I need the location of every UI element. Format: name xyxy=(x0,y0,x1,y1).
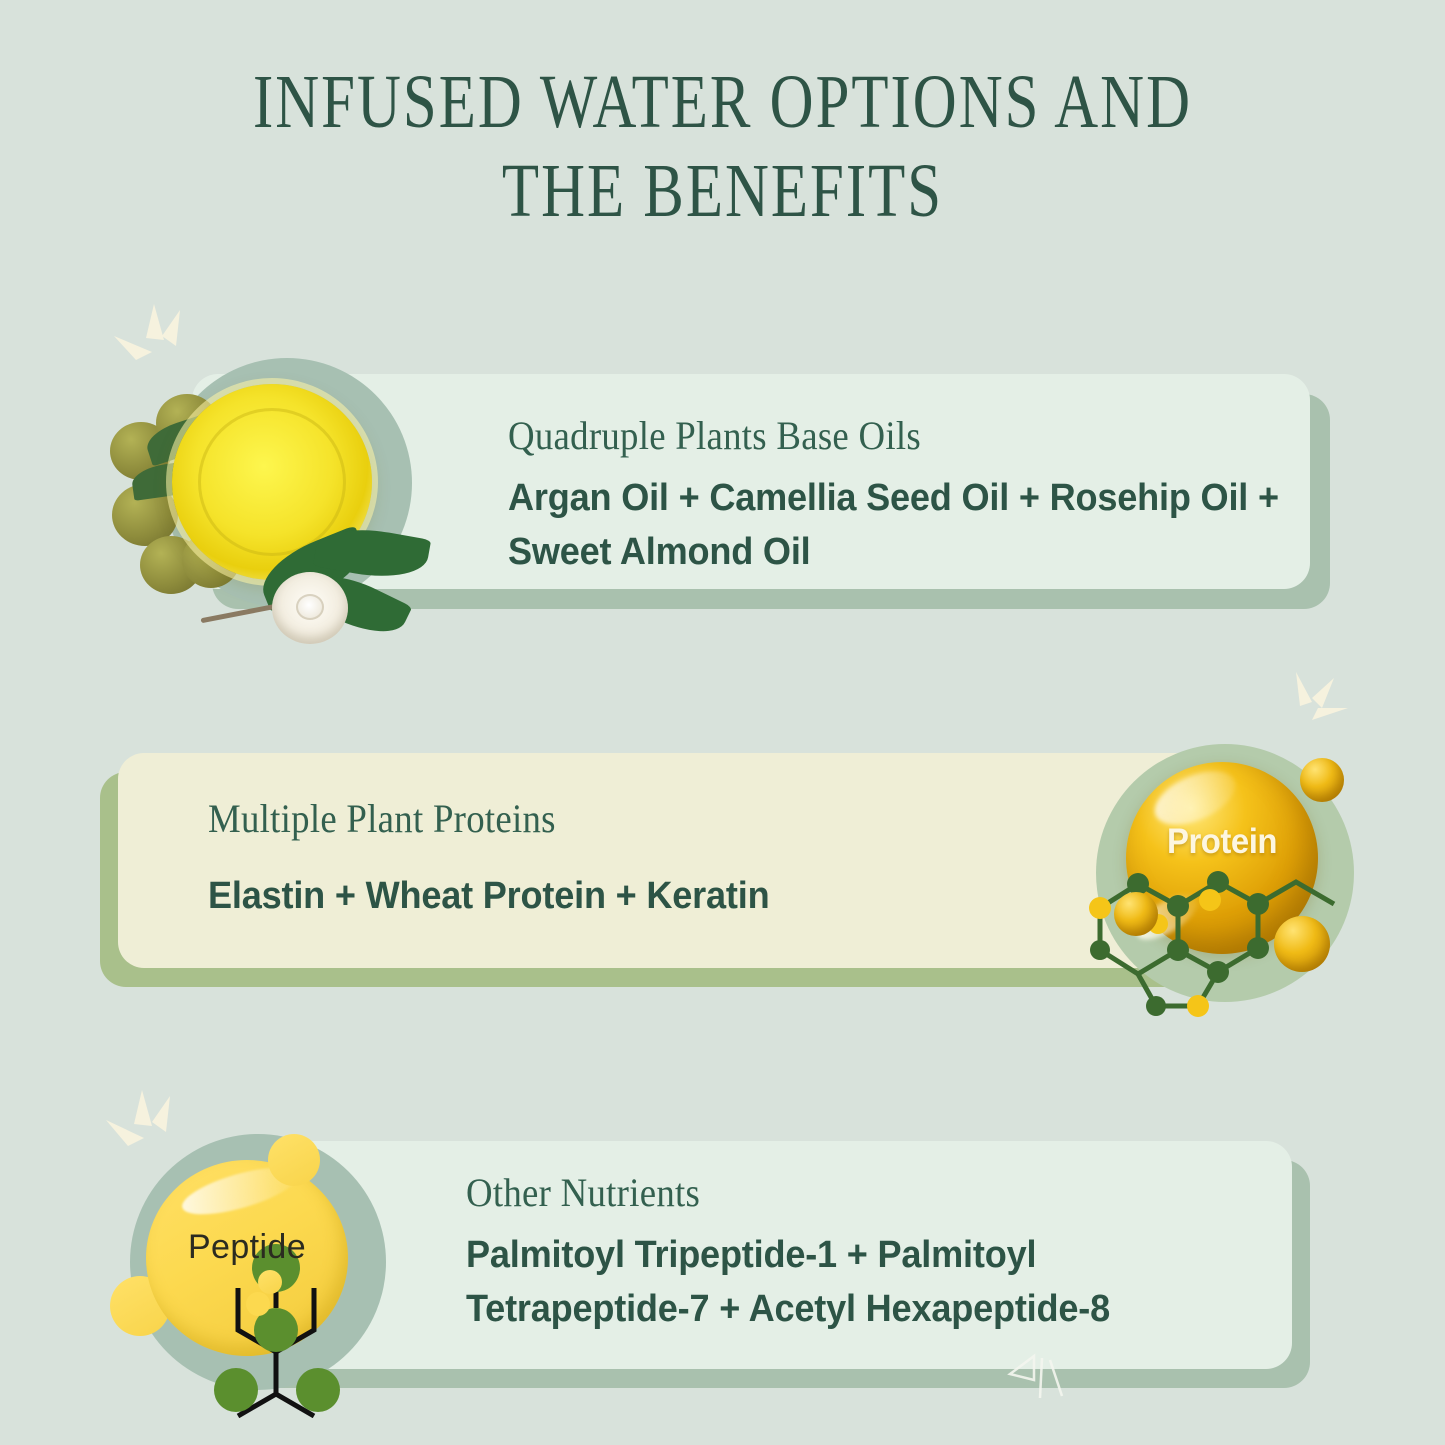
golden-droplet-icon xyxy=(1114,892,1158,936)
peptide-bubble-label: Peptide xyxy=(146,1228,348,1267)
card-heading-proteins: Multiple Plant Proteins xyxy=(208,795,556,842)
card-body-other-nutrients: Palmitoyl Tripeptide-1 + Palmitoyl Tetra… xyxy=(466,1229,1226,1337)
golden-droplet-icon xyxy=(1274,916,1330,972)
page-title: INFUSED WATER OPTIONS AND THE BENEFITS xyxy=(145,58,1301,236)
golden-droplet-icon xyxy=(1300,758,1344,802)
card-heading-other-nutrients: Other Nutrients xyxy=(466,1169,700,1216)
protein-bubble-label: Protein xyxy=(1132,822,1312,862)
card-heading-oils: Quadruple Plants Base Oils xyxy=(508,412,921,459)
card-body-oils: Argan Oil + Camellia Seed Oil + Rosehip … xyxy=(508,472,1344,580)
peptide-illustration: Peptide xyxy=(110,1118,430,1418)
yellow-bubble-icon xyxy=(258,1270,282,1294)
sparkle-icon xyxy=(108,300,198,370)
card-body-proteins: Elastin + Wheat Protein + Keratin xyxy=(208,870,1063,924)
infographic-page: INFUSED WATER OPTIONS AND THE BENEFITS Q… xyxy=(0,0,1445,1445)
protein-droplet-illustration: Protein xyxy=(1078,718,1378,1018)
oil-bowl-illustration xyxy=(104,336,444,646)
sparkle-icon xyxy=(1000,1348,1080,1414)
camellia-flower-icon xyxy=(272,572,348,644)
card-multiple-plant-proteins: Multiple Plant Proteins Elastin + Wheat … xyxy=(118,753,1221,968)
molecule-hexagon-icon xyxy=(110,1118,430,1418)
